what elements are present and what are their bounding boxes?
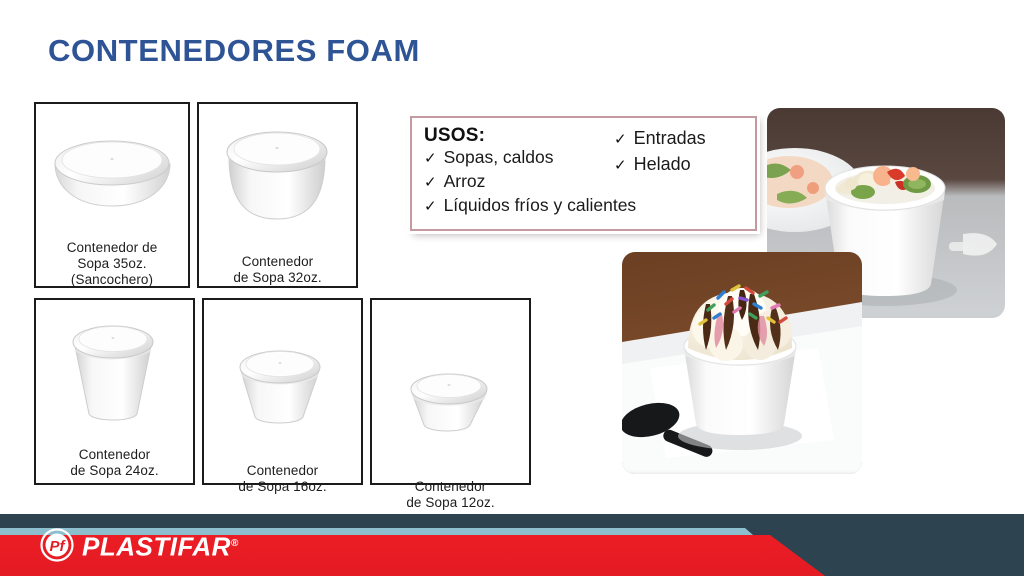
brand-name: PLASTIFAR® <box>82 531 239 560</box>
product-card-sopa-24oz[interactable]: Contenedor de Sopa 24oz. <box>34 298 195 485</box>
product-label-line2: de Sopa 24oz. <box>70 463 158 479</box>
footer-bar: Pf PLASTIFAR® <box>0 514 1024 576</box>
product-image-sopa-24oz <box>59 300 171 433</box>
usos-callout-box: USOS: ✓ Sopas, caldos ✓ Arroz ✓ Entradas… <box>410 116 757 231</box>
product-label-line2: de Sopa 16oz. <box>238 479 326 495</box>
usos-column-right: ✓ Entradas ✓ Helado <box>614 126 706 178</box>
product-label-line2: de Sopa 12oz. <box>406 495 494 511</box>
registered-mark: ® <box>231 538 239 549</box>
usos-item-full-width: ✓ Líquidos fríos y calientes <box>424 194 747 218</box>
product-label-line3: (Sancochero) <box>67 272 158 288</box>
usos-item: ✓ Entradas <box>614 126 706 152</box>
brand-logo[interactable]: Pf PLASTIFAR® <box>40 528 239 562</box>
product-image-sopa-16oz <box>227 300 339 449</box>
foam-cup-16oz-icon <box>227 337 339 437</box>
product-image-sopa-12oz <box>398 300 504 465</box>
check-icon: ✓ <box>424 147 437 170</box>
plastifar-monogram-icon: Pf <box>40 528 74 562</box>
product-label-sopa-24oz: Contenedor de Sopa 24oz. <box>64 447 164 479</box>
brand-name-text: PLASTIFAR <box>82 531 231 561</box>
product-label-line2: de Sopa 32oz. <box>233 270 321 286</box>
usos-item: ✓ Helado <box>614 152 706 178</box>
usos-column-left: ✓ Sopas, caldos ✓ Arroz <box>424 146 614 194</box>
usos-item-label: Helado <box>634 152 691 177</box>
product-label-line1: Contenedor <box>70 447 158 463</box>
page-title: CONTENEDORES FOAM <box>48 33 420 69</box>
product-image-sopa-35oz <box>45 104 180 236</box>
product-card-sopa-16oz[interactable]: Contenedor de Sopa 16oz. <box>202 298 363 485</box>
product-label-line1: Contenedor <box>406 479 494 495</box>
product-label-sopa-35oz: Contenedor de Sopa 35oz. (Sancochero) <box>61 240 164 288</box>
usos-columns: ✓ Sopas, caldos ✓ Arroz ✓ Entradas ✓ Hel… <box>424 146 747 194</box>
product-card-sopa-32oz[interactable]: Contenedor de Sopa 32oz. <box>197 102 358 288</box>
product-label-line1: Contenedor de <box>67 240 158 256</box>
product-label-line1: Contenedor <box>238 463 326 479</box>
usos-item-label: Entradas <box>634 126 706 151</box>
product-image-sopa-32oz <box>215 104 340 240</box>
product-label-sopa-12oz: Contenedor de Sopa 12oz. <box>400 479 500 511</box>
photo-ice-cream-sundae <box>622 252 862 474</box>
product-label-line1: Contenedor <box>233 254 321 270</box>
foam-cup-24oz-icon <box>59 310 171 432</box>
product-grid-row: Contenedor de Sopa 24oz. <box>34 298 538 485</box>
usos-item: ✓ Arroz <box>424 170 614 194</box>
product-label-sopa-32oz: Contenedor de Sopa 32oz. <box>227 254 327 286</box>
check-icon: ✓ <box>424 171 437 194</box>
foam-cup-12oz-icon <box>398 361 504 445</box>
svg-text:Pf: Pf <box>50 538 67 555</box>
check-icon: ✓ <box>614 127 627 152</box>
usos-item-label: Sopas, caldos <box>444 146 554 169</box>
foam-tub-32oz-icon <box>215 116 340 236</box>
check-icon: ✓ <box>424 195 437 218</box>
product-card-sopa-35oz[interactable]: Contenedor de Sopa 35oz. (Sancochero) <box>34 102 190 288</box>
ice-cream-sundae-image <box>622 252 862 474</box>
usos-item-label: Arroz <box>444 170 486 193</box>
foam-bowl-35oz-icon <box>45 126 180 226</box>
check-icon: ✓ <box>614 153 627 178</box>
product-card-sopa-12oz[interactable]: Contenedor de Sopa 12oz. <box>370 298 531 485</box>
usos-item: ✓ Sopas, caldos <box>424 146 614 170</box>
product-label-sopa-16oz: Contenedor de Sopa 16oz. <box>232 463 332 495</box>
product-label-line2: Sopa 35oz. <box>67 256 158 272</box>
usos-item-label: Líquidos fríos y calientes <box>444 194 637 217</box>
